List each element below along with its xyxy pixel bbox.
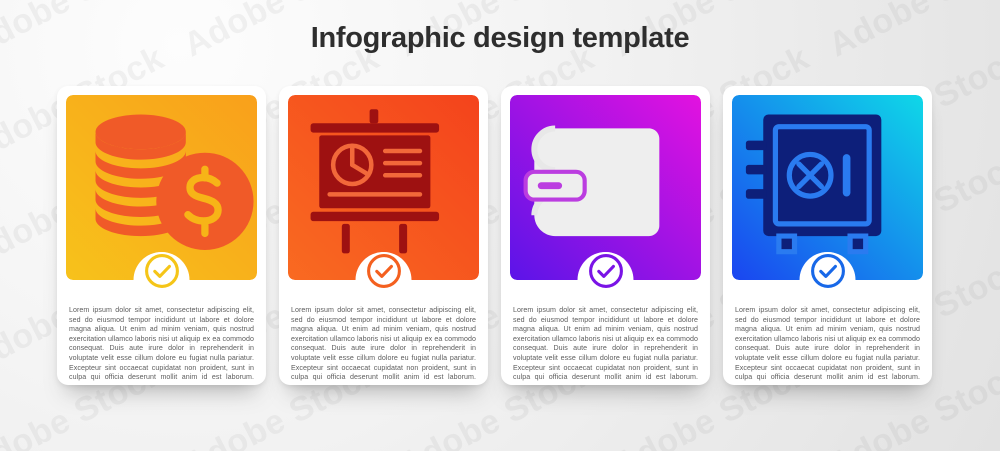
safe-vault-icon <box>732 95 923 273</box>
page-title: Infographic design template <box>0 22 1000 55</box>
status-badge-check[interactable] <box>143 252 181 290</box>
check-badge-svg <box>809 252 847 290</box>
card-body-text: Lorem ipsum dolor sit amet, consectetur … <box>510 306 701 392</box>
check-badge-svg <box>143 252 181 290</box>
card-body-text: Lorem ipsum dolor sit amet, consectetur … <box>66 306 257 392</box>
wallet-icon <box>510 95 701 273</box>
coin-stack-dollar-icon <box>66 95 257 273</box>
card-body-text: Lorem ipsum dolor sit amet, consectetur … <box>732 306 923 392</box>
status-badge-check[interactable] <box>587 252 625 290</box>
info-card[interactable]: Lorem ipsum dolor sit amet, consectetur … <box>279 86 488 385</box>
check-badge-svg <box>365 252 403 290</box>
info-card[interactable]: Lorem ipsum dolor sit amet, consectetur … <box>723 86 932 385</box>
presentation-chart-board-icon <box>288 95 479 273</box>
info-card[interactable]: Lorem ipsum dolor sit amet, consectetur … <box>501 86 710 385</box>
status-badge-check[interactable] <box>809 252 847 290</box>
card-body-text: Lorem ipsum dolor sit amet, consectetur … <box>288 306 479 392</box>
check-badge-svg <box>587 252 625 290</box>
card-list: Lorem ipsum dolor sit amet, consectetur … <box>57 86 947 385</box>
status-badge-check[interactable] <box>365 252 403 290</box>
info-card[interactable]: Lorem ipsum dolor sit amet, consectetur … <box>57 86 266 385</box>
